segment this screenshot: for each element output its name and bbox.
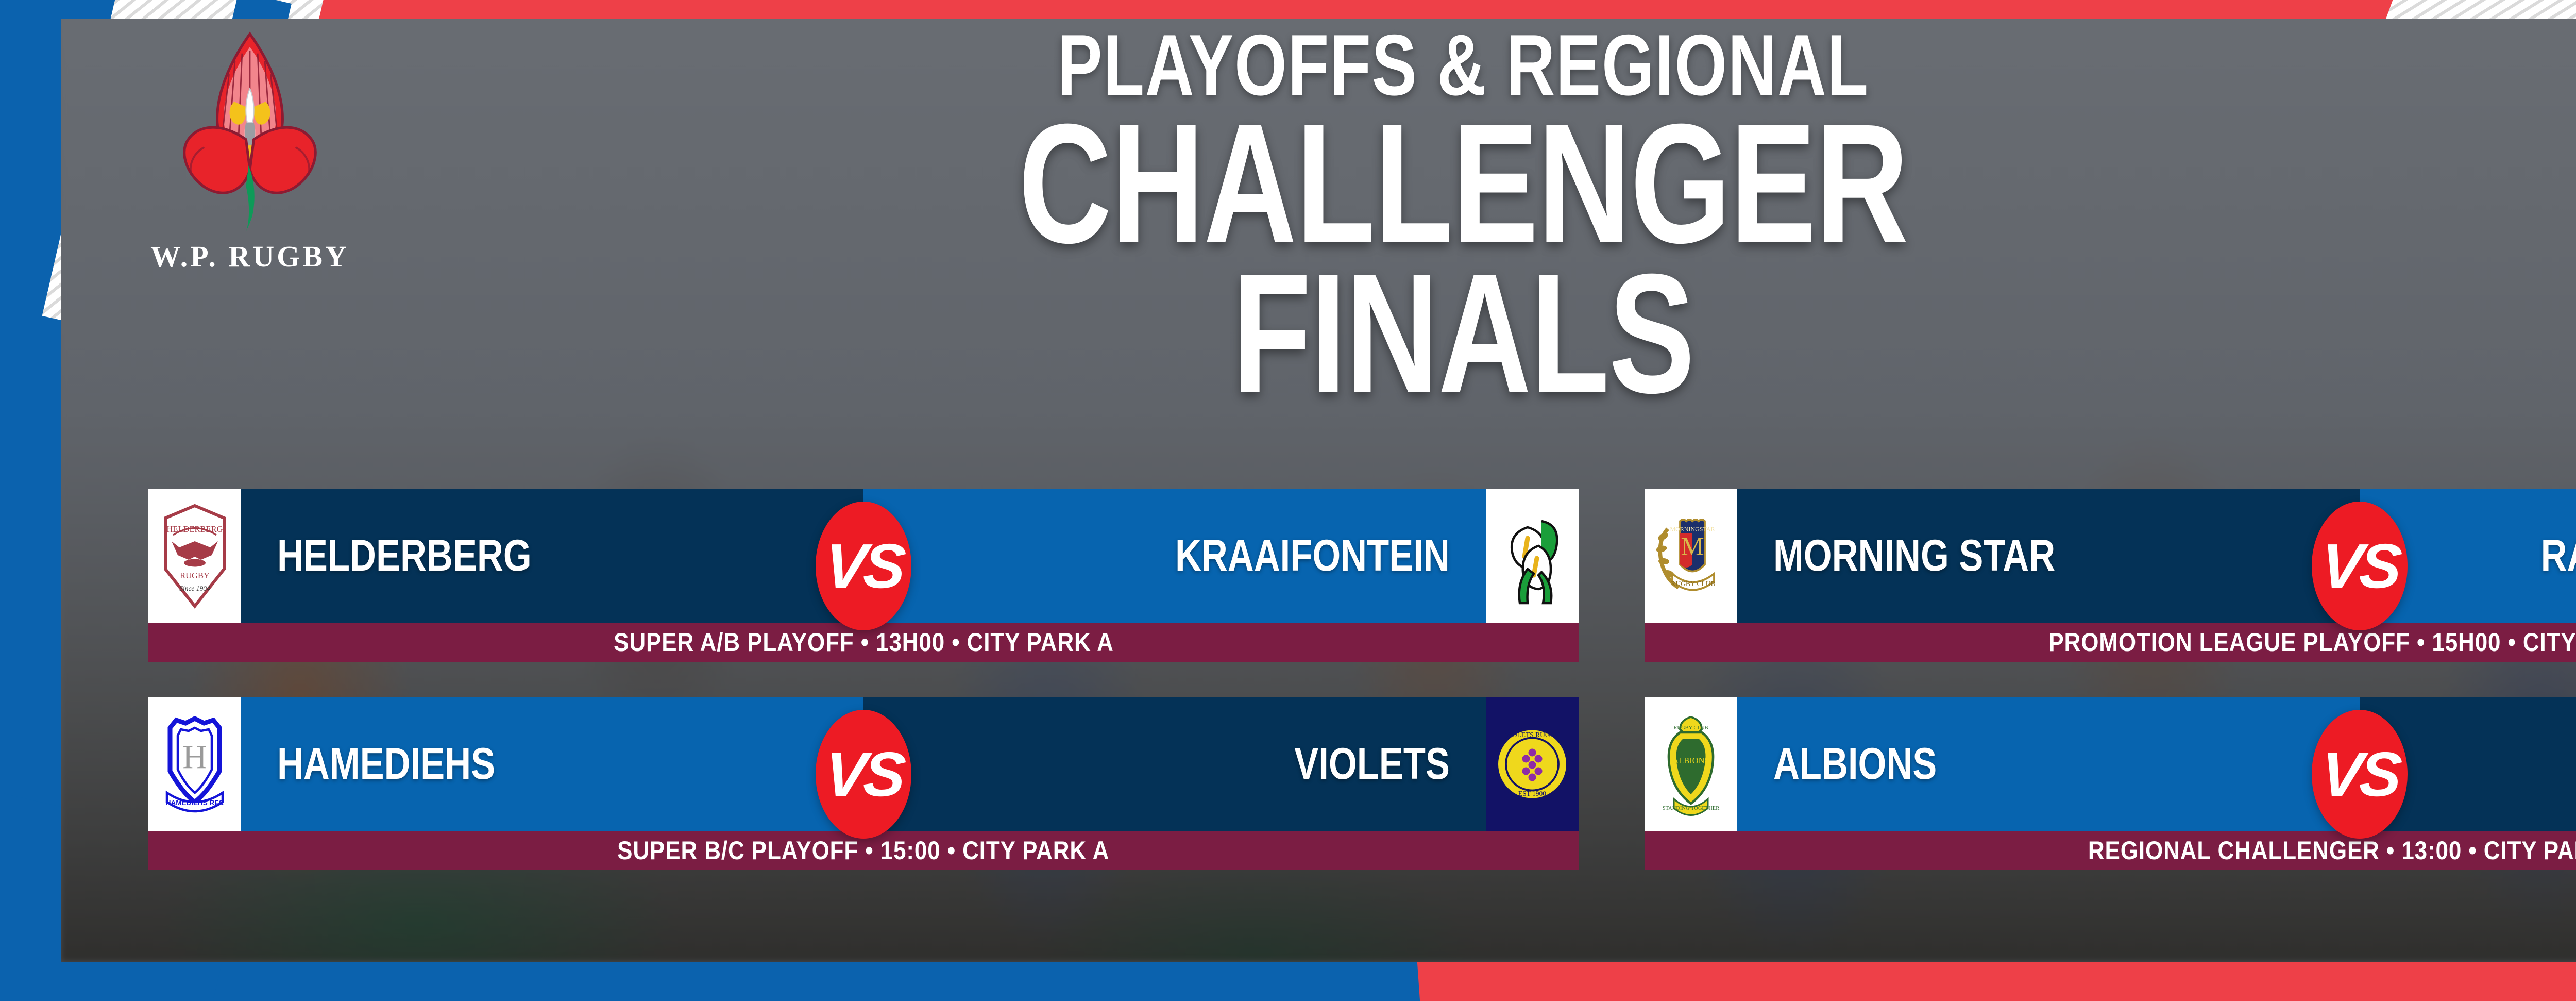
svg-text:RUGBY: RUGBY xyxy=(180,571,210,580)
morning-star-rugby-club-crest-icon: MORNINGSTAR M RUGBY CLUB xyxy=(1652,498,1730,614)
vs-label: VS xyxy=(2318,535,2400,597)
away-team-name: KRAAIFONTEIN xyxy=(1175,533,1450,578)
home-team-logo-cell: ALBIONS RUGBY CLUB STANDING TOGETHER xyxy=(1645,697,1737,831)
vs-badge: VS xyxy=(2312,710,2408,839)
home-team-name: ALBIONS xyxy=(1773,742,1937,786)
svg-text:HAMEDIEHS RFC: HAMEDIEHS RFC xyxy=(166,799,224,807)
wp-rugby-logo: W.P. RUGBY xyxy=(139,25,361,344)
poster-canvas: W.P. RUGBY PLAYOFFS & REGIONAL CHALLENGE… xyxy=(0,0,2576,1001)
disa-orchid-flower-icon xyxy=(165,25,335,246)
away-team-logo-cell: VIOLETS RUGBY EST 1900 xyxy=(1486,697,1579,831)
away-team-panel: KRAAIFONTEIN xyxy=(863,489,1486,623)
vs-label: VS xyxy=(822,743,904,806)
match-info-text: SUPER B/C PLAYOFF • 15:00 • CITY PARK A xyxy=(617,836,1109,865)
away-team-name: VIOLETS xyxy=(1294,742,1450,786)
match-card[interactable]: ALBIONS RUGBY CLUB STANDING TOGETHER ALB… xyxy=(1645,697,2576,880)
home-team-name: MORNING STAR xyxy=(1773,533,2055,578)
vs-label: VS xyxy=(822,535,904,597)
home-team-logo-cell: MORNINGSTAR M RUGBY CLUB xyxy=(1645,489,1737,623)
svg-text:RUGBY CLUB: RUGBY CLUB xyxy=(1671,580,1715,588)
match-info-text: SUPER A/B PLAYOFF • 13H00 • CITY PARK A xyxy=(614,627,1114,657)
match-info-bar: REGIONAL CHALLENGER • 13:00 • CITY PARK … xyxy=(1645,831,2576,870)
home-team-panel: MORNING STAR xyxy=(1737,489,2360,623)
svg-text:MORNINGSTAR: MORNINGSTAR xyxy=(1670,525,1715,532)
svg-text:ALBIONS: ALBIONS xyxy=(1672,756,1709,765)
helderberg-rugby-shield-icon: HELDERBERG RUGBY Since 1904 xyxy=(156,498,233,614)
match-card[interactable]: H HAMEDIEHS RFC HAMEDIEHS VIOLETS VIOLET… xyxy=(148,697,1579,880)
match-card-body: HELDERBERG RUGBY Since 1904 HELDERBERG K… xyxy=(148,489,1579,623)
home-team-panel: ALBIONS xyxy=(1737,697,2360,831)
svg-text:VIOLETS RUGBY: VIOLETS RUGBY xyxy=(1505,731,1560,739)
vs-label: VS xyxy=(2318,743,2400,806)
albions-rugby-club-crest-icon: ALBIONS RUGBY CLUB STANDING TOGETHER xyxy=(1652,706,1730,822)
match-card[interactable]: MORNINGSTAR M RUGBY CLUB MORNING STAR RA… xyxy=(1645,489,2576,672)
match-card-body: H HAMEDIEHS RFC HAMEDIEHS VIOLETS VIOLET… xyxy=(148,697,1579,831)
home-team-logo-cell: HELDERBERG RUGBY Since 1904 xyxy=(148,489,241,623)
svg-text:M: M xyxy=(1681,532,1704,561)
vs-badge: VS xyxy=(816,710,911,839)
away-team-panel: VIOLETS xyxy=(863,697,1486,831)
fixture-grid: HELDERBERG RUGBY Since 1904 HELDERBERG K… xyxy=(148,489,2576,880)
svg-text:Since 1904: Since 1904 xyxy=(179,585,210,592)
home-team-logo-cell: H HAMEDIEHS RFC xyxy=(148,697,241,831)
match-card-body: MORNINGSTAR M RUGBY CLUB MORNING STAR RA… xyxy=(1645,489,2576,623)
home-team-panel: HELDERBERG xyxy=(241,489,863,623)
svg-text:STANDING TOGETHER: STANDING TOGETHER xyxy=(1663,806,1719,811)
svg-text:HELDERBERG: HELDERBERG xyxy=(166,524,223,534)
svg-text:RUGBY CLUB: RUGBY CLUB xyxy=(1674,725,1708,731)
home-team-panel: HAMEDIEHS xyxy=(241,697,863,831)
home-team-name: HAMEDIEHS xyxy=(277,742,495,786)
match-info-text: REGIONAL CHALLENGER • 13:00 • CITY PARK … xyxy=(2088,836,2576,865)
match-card[interactable]: HELDERBERG RUGBY Since 1904 HELDERBERG K… xyxy=(148,489,1579,672)
svg-text:EST 1900: EST 1900 xyxy=(1518,790,1546,797)
violets-rugby-roundel-icon: VIOLETS RUGBY EST 1900 xyxy=(1494,706,1571,822)
match-info-text: PROMOTION LEAGUE PLAYOFF • 15H00 • CITY … xyxy=(2048,627,2576,657)
away-team-logo-cell xyxy=(1486,489,1579,623)
wp-rugby-logo-caption: W.P. RUGBY xyxy=(150,239,349,274)
match-card-body: ALBIONS RUGBY CLUB STANDING TOGETHER ALB… xyxy=(1645,697,2576,831)
match-info-bar: PROMOTION LEAGUE PLAYOFF • 15H00 • CITY … xyxy=(1645,623,2576,662)
hamediehs-rfc-shield-icon: H HAMEDIEHS RFC xyxy=(156,706,233,822)
svg-text:H: H xyxy=(182,738,207,776)
home-team-name: HELDERBERG xyxy=(277,533,532,578)
away-team-name: RAITHBY UNIVERSALS xyxy=(2541,533,2576,578)
vs-badge: VS xyxy=(2312,502,2408,630)
kraaifontein-arum-lily-icon xyxy=(1494,498,1571,614)
vs-badge: VS xyxy=(816,502,911,630)
